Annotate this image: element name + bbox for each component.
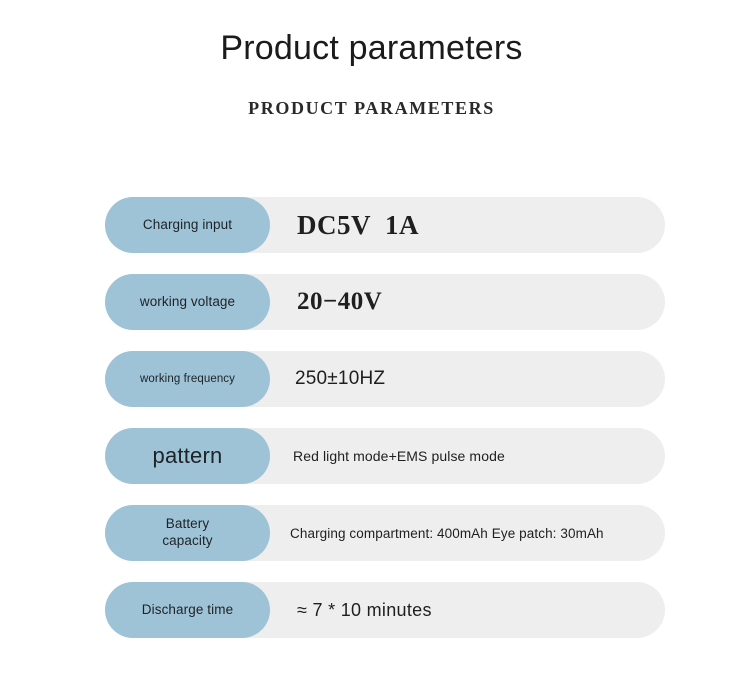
spec-label-working-voltage: working voltage [105,274,270,330]
spec-label-text: working voltage [140,294,235,311]
spec-value-discharge-time: ≈ 7 * 10 minutes [297,582,432,638]
spec-label-pattern: pattern [105,428,270,484]
spec-value-pattern: Red light mode+EMS pulse mode [293,428,505,484]
spec-label-text: Charging input [143,217,232,234]
spec-row-battery-capacity: Battery capacity Charging compartment: 4… [105,505,665,561]
spec-label-text: Battery capacity [162,516,212,550]
spec-label-text: Discharge time [142,602,233,619]
spec-label-working-frequency: working frequency [105,351,270,407]
spec-row-working-frequency: working frequency 250±10HZ [105,351,665,407]
spec-label-battery-capacity: Battery capacity [105,505,270,561]
page-subtitle: PRODUCT PARAMETERS [0,70,743,119]
spec-row-discharge-time: Discharge time ≈ 7 * 10 minutes [105,582,665,638]
spec-value-working-frequency: 250±10HZ [295,351,385,407]
product-parameters-table: Charging input DC5V 1A working voltage 2… [105,197,665,638]
spec-label-text: pattern [153,442,223,470]
spec-row-pattern: pattern Red light mode+EMS pulse mode [105,428,665,484]
spec-value-charging-input: DC5V 1A [297,197,419,253]
spec-label-charging-input: Charging input [105,197,270,253]
spec-row-charging-input: Charging input DC5V 1A [105,197,665,253]
page-header: Product parameters PRODUCT PARAMETERS [0,0,743,119]
spec-value-working-voltage: 20−40V [297,274,382,330]
spec-label-text: working frequency [140,372,235,386]
spec-label-discharge-time: Discharge time [105,582,270,638]
page-title: Product parameters [0,0,743,70]
spec-row-working-voltage: working voltage 20−40V [105,274,665,330]
spec-value-battery-capacity: Charging compartment: 400mAh Eye patch: … [290,505,604,561]
